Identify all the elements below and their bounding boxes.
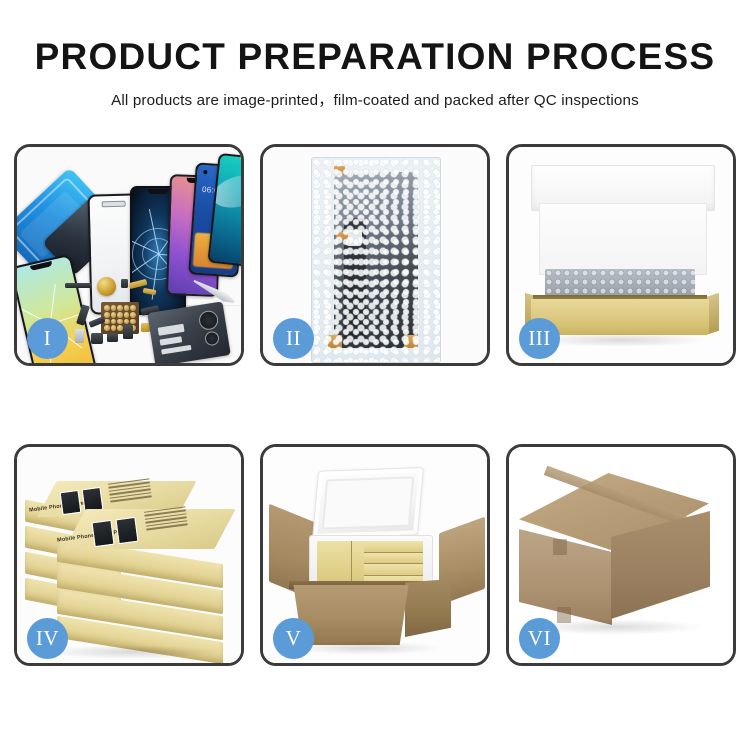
battery-connector-part (123, 325, 133, 339)
ic-chip (161, 345, 191, 355)
screw (124, 312, 130, 318)
process-step-panel-1[interactable]: 06:08 (14, 144, 244, 366)
process-step-panel-5[interactable]: V (260, 444, 490, 666)
foam-lid (312, 467, 424, 539)
screw (117, 319, 123, 325)
screw (130, 319, 136, 325)
step-badge-5: V (273, 618, 314, 659)
screw (117, 312, 123, 318)
wrapped-screen-assembly (334, 172, 418, 348)
screw (111, 325, 117, 331)
screw (104, 305, 110, 311)
product-window (60, 490, 82, 515)
carton-flap-tab (553, 539, 567, 555)
box-lid-front-panel (539, 203, 707, 275)
page-subtitle: All products are image-printed，film-coat… (0, 77, 750, 110)
screw (130, 312, 136, 318)
process-step-panel-2[interactable]: II (260, 144, 490, 366)
earpiece-cutout (102, 201, 126, 208)
camera-module-part (91, 333, 103, 344)
step-badge-6: VI (519, 618, 560, 659)
screw-tray (101, 302, 139, 334)
screw (124, 319, 130, 325)
stack-shadow (43, 645, 221, 659)
camera-ring (198, 309, 220, 331)
connector-patch (346, 230, 362, 246)
screw (111, 305, 117, 311)
page-title: PRODUCT PREPARATION PROCESS (0, 0, 750, 77)
ic-chip (158, 324, 185, 336)
small-connector (121, 279, 128, 288)
screw (117, 325, 123, 331)
process-step-grid: 06:08 (14, 144, 736, 666)
product-window (91, 520, 114, 547)
tape-tab (336, 232, 348, 240)
carton-side-wall (405, 579, 451, 637)
tape-tab (404, 335, 418, 348)
tape-tab (334, 166, 345, 175)
process-step-panel-4[interactable]: Mobile Phone Spare Parts Mobile Phone Sp… (14, 444, 244, 666)
speaker-mesh-part (65, 283, 91, 288)
phone-motherboard (147, 301, 231, 363)
tape-tab (328, 335, 342, 348)
step-badge-2: II (273, 318, 314, 359)
product-window (115, 517, 138, 544)
page-header: PRODUCT PREPARATION PROCESS All products… (0, 0, 750, 110)
buzzer-part (107, 333, 118, 342)
phone-notch (148, 189, 168, 194)
screw (117, 305, 123, 311)
sim-tray-part (75, 329, 84, 343)
screw (104, 325, 110, 331)
ic-chip (160, 336, 183, 345)
screw (111, 312, 117, 318)
step-badge-3: III (519, 318, 560, 359)
punch-hole-camera (203, 170, 207, 174)
packed-boxes (317, 541, 423, 583)
bubble-wrap-bag (311, 157, 441, 363)
process-step-panel-6[interactable]: VI (506, 444, 736, 666)
process-step-panel-3[interactable]: III (506, 144, 736, 366)
carton-shadow (291, 641, 441, 655)
gold-vibration-motor (97, 277, 116, 296)
flex-cable-strip (344, 218, 366, 342)
screw (111, 319, 117, 325)
packed-box-rows (364, 541, 423, 583)
phone-notch (30, 261, 53, 271)
camera-ring (204, 330, 220, 346)
screw (104, 312, 110, 318)
screw (124, 305, 130, 311)
screw (130, 305, 136, 311)
step-badge-4: IV (27, 618, 68, 659)
step-badge-1: I (27, 318, 68, 359)
bubble-texture-overlay (312, 158, 440, 362)
